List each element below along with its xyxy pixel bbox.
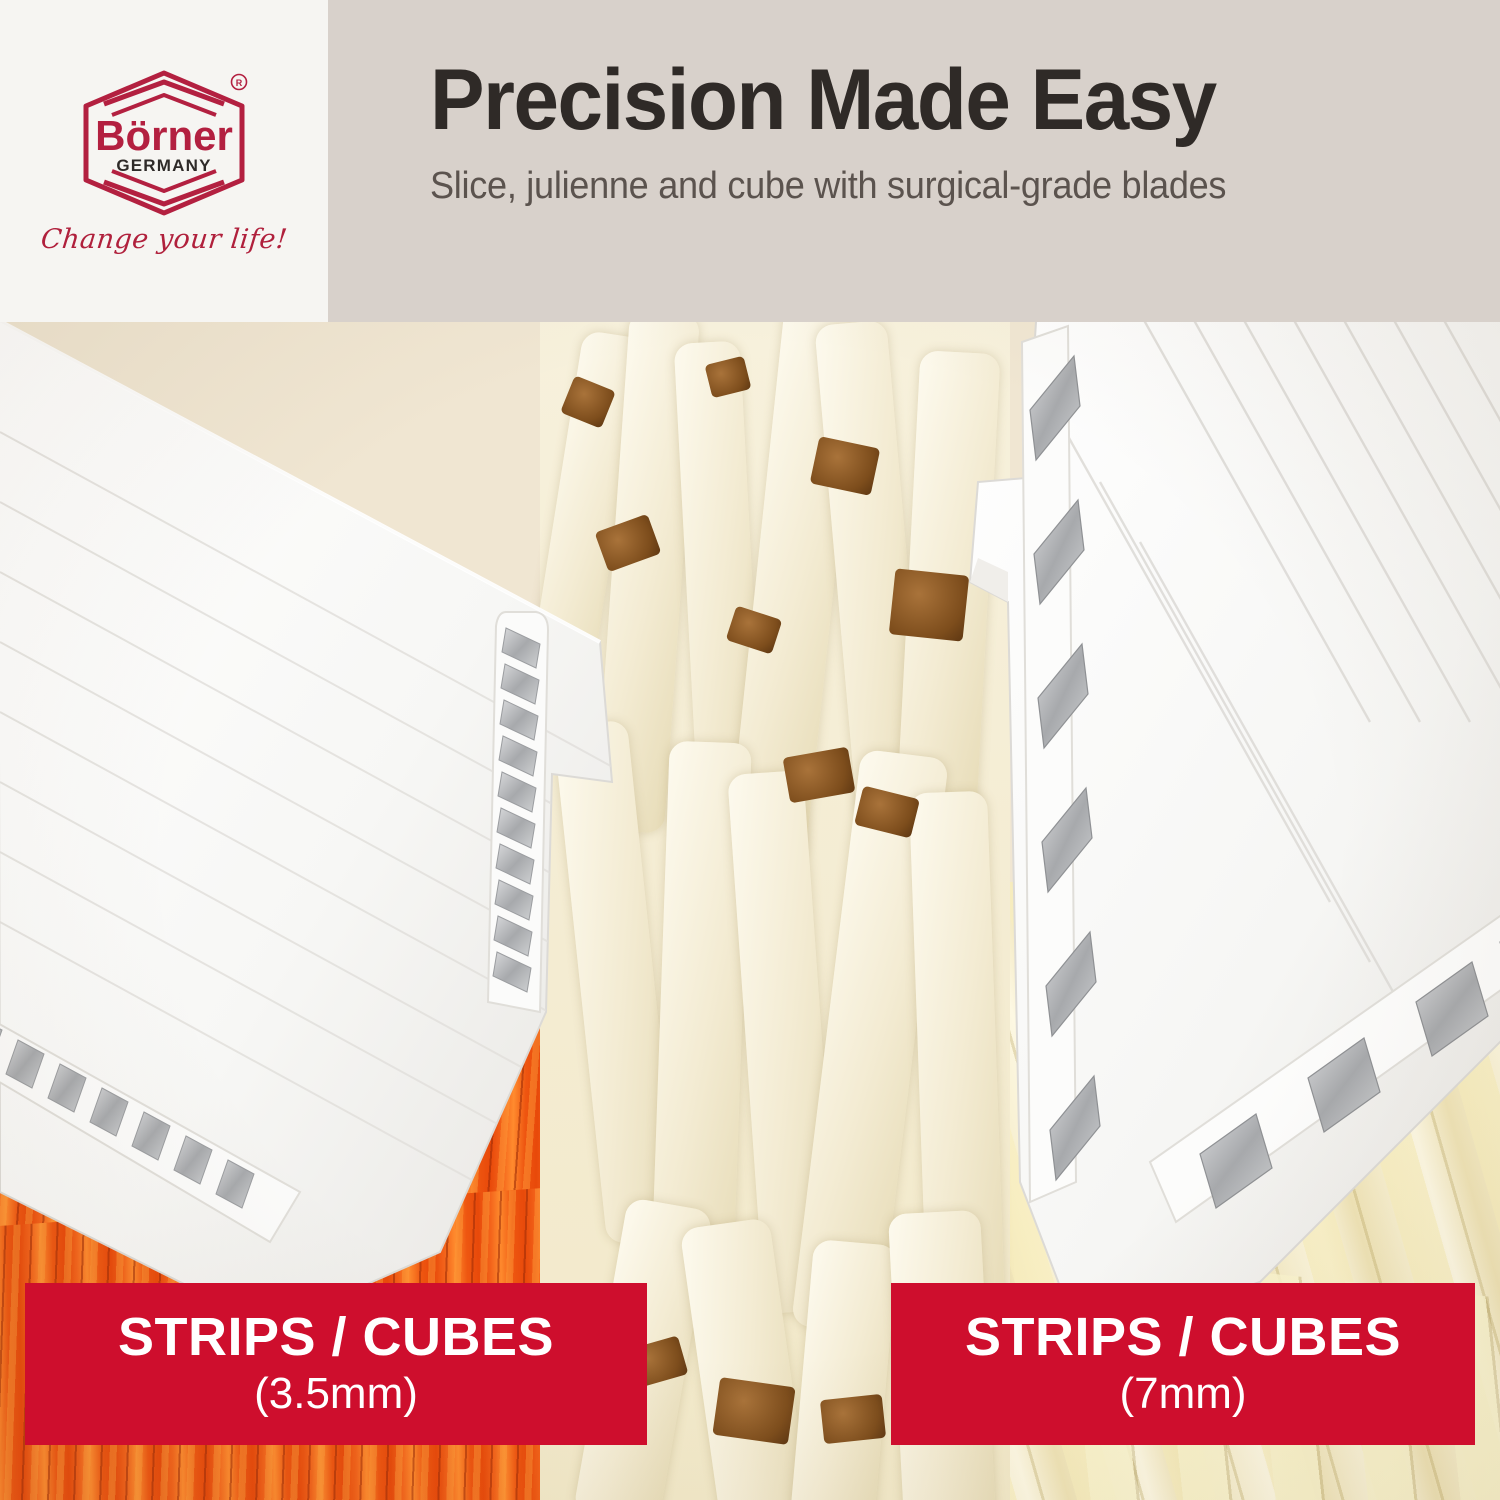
banner-size-left: (3.5mm): [254, 1370, 418, 1418]
status-badge-strips-cubes-7mm: STRIPS / CUBES (7mm): [891, 1283, 1475, 1445]
v-blade-insert-fine-icon: [0, 322, 700, 1332]
banner-title-right: STRIPS / CUBES: [965, 1309, 1401, 1366]
brand-tagline: Change your life!: [39, 224, 289, 255]
hexagon-chevron-logo-icon: Börner GERMANY R: [71, 68, 257, 218]
header-text-block: Precision Made Easy Slice, julienne and …: [330, 0, 1500, 322]
page-subtitle: Slice, julienne and cube with surgical-g…: [430, 165, 1409, 208]
brand-logo-panel: Börner GERMANY R Change your life!: [0, 0, 328, 322]
product-feature-image: Börner GERMANY R Change your life! Preci…: [0, 0, 1500, 1500]
header-bar: Börner GERMANY R Change your life! Preci…: [0, 0, 1500, 322]
banner-title-left: STRIPS / CUBES: [118, 1309, 554, 1366]
page-title: Precision Made Easy: [430, 57, 1409, 143]
svg-text:R: R: [236, 78, 243, 88]
banner-size-right: (7mm): [1119, 1370, 1246, 1418]
svg-text:GERMANY: GERMANY: [116, 156, 211, 175]
v-blade-insert-coarse-icon: [900, 322, 1500, 1262]
status-badge-strips-cubes-3-5mm: STRIPS / CUBES (3.5mm): [25, 1283, 647, 1445]
svg-text:Börner: Börner: [95, 112, 233, 159]
